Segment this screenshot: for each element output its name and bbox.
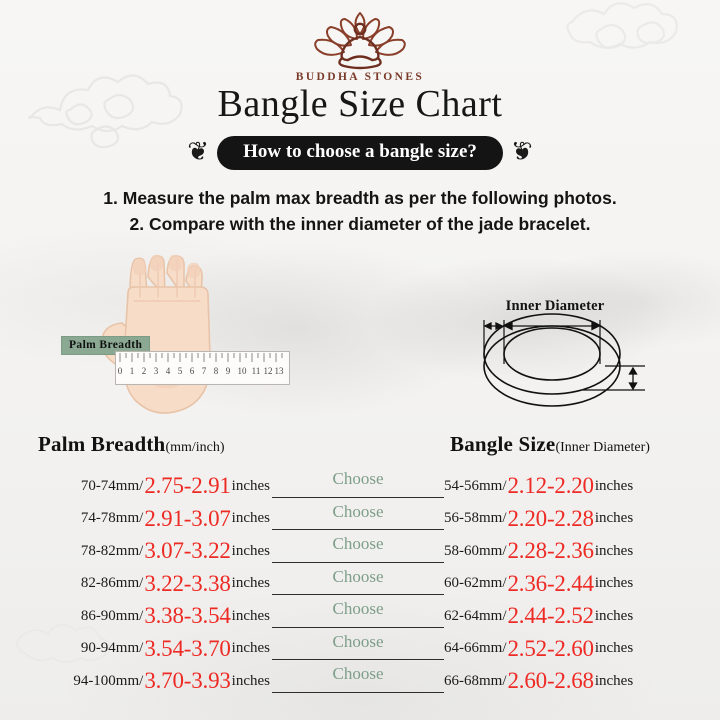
inch-range: 3.38-3.54 [144,603,230,629]
choose-row[interactable]: Choose [272,665,444,698]
svg-text:12: 12 [264,366,273,376]
choose-label[interactable]: Choose [272,599,444,619]
svg-text:2: 2 [142,366,147,376]
palm-header-main: Palm Breadth [38,432,165,456]
table-row: 70-74mm/2.75-2.91inches [14,470,270,503]
mm-range: 86-90mm/ [81,608,144,625]
inch-range: 2.91-3.07 [144,506,230,532]
inch-range: 2.20-2.28 [508,506,594,532]
inch-range: 3.54-3.70 [144,636,230,662]
svg-text:8: 8 [214,366,219,376]
inch-range: 2.28-2.36 [508,538,594,564]
mm-range: 56-58mm/ [444,510,507,527]
choose-row[interactable]: Choose [272,535,444,568]
unit-label: inches [595,673,633,690]
svg-text:6: 6 [190,366,195,376]
unit-label: inches [232,478,270,495]
instruction-step-2: 2. Compare with the inner diameter of th… [0,212,720,237]
unit-label: inches [595,640,633,657]
table-row: 86-90mm/3.38-3.54inches [14,600,270,633]
svg-text:5: 5 [178,366,183,376]
instruction-steps: 1. Measure the palm max breadth as per t… [0,186,720,237]
mm-range: 94-100mm/ [73,673,143,690]
unit-label: inches [595,608,633,625]
choose-column: ChooseChooseChooseChooseChooseChooseChoo… [272,470,444,698]
banner-row: ❦ How to choose a bangle size? ❦ [0,136,720,170]
table-row: 64-66mm/2.52-2.60inches [444,633,714,666]
bangle-column-header: Bangle Size(Inner Diameter) [450,432,650,457]
page-title: Bangle Size Chart [0,82,720,126]
choose-underline [272,497,444,498]
bangle-header-main: Bangle Size [450,432,555,456]
unit-label: inches [595,510,633,527]
mm-range: 66-68mm/ [444,673,507,690]
choose-row[interactable]: Choose [272,470,444,503]
unit-label: inches [232,575,270,592]
mm-range: 78-82mm/ [81,543,144,560]
ruler-graphic: 012 345 678 91011 121314 [115,351,290,385]
choose-underline [272,627,444,628]
table-row: 82-86mm/3.22-3.38inches [14,568,270,601]
table-row: 74-78mm/2.91-3.07inches [14,503,270,536]
svg-text:9: 9 [226,366,231,376]
choose-underline [272,594,444,595]
unit-label: inches [595,575,633,592]
ornament-flourish-icon: ❦ [187,139,209,165]
bangle-size-rows: 54-56mm/2.12-2.20inches56-58mm/2.20-2.28… [444,470,714,698]
mm-range: 70-74mm/ [81,478,144,495]
mm-range: 58-60mm/ [444,543,507,560]
palm-breadth-rows: 70-74mm/2.75-2.91inches74-78mm/2.91-3.07… [14,470,270,698]
palm-column-header: Palm Breadth(mm/inch) [38,432,225,457]
unit-label: inches [595,478,633,495]
table-row: 58-60mm/2.28-2.36inches [444,535,714,568]
inch-range: 2.36-2.44 [508,571,594,597]
choose-label[interactable]: Choose [272,534,444,554]
palm-header-sub: (mm/inch) [165,440,224,455]
banner-pill: How to choose a bangle size? [217,136,503,170]
choose-label[interactable]: Choose [272,664,444,684]
inch-range: 2.12-2.20 [508,473,594,499]
choose-label[interactable]: Choose [272,567,444,587]
mm-range: 60-62mm/ [444,575,507,592]
inch-range: 2.52-2.60 [508,636,594,662]
inch-range: 3.07-3.22 [144,538,230,564]
svg-text:11: 11 [252,366,261,376]
brand-logo: BUDDHA STONES [0,8,720,83]
table-row: 54-56mm/2.12-2.20inches [444,470,714,503]
choose-row[interactable]: Choose [272,503,444,536]
mm-range: 54-56mm/ [444,478,507,495]
inch-range: 3.70-3.93 [144,668,230,694]
inch-range: 2.75-2.91 [144,473,230,499]
unit-label: inches [232,673,270,690]
instruction-step-1: 1. Measure the palm max breadth as per t… [0,186,720,211]
choose-label[interactable]: Choose [272,502,444,522]
svg-text:7: 7 [202,366,207,376]
table-row: 78-82mm/3.07-3.22inches [14,535,270,568]
choose-row[interactable]: Choose [272,600,444,633]
inch-range: 2.44-2.52 [508,603,594,629]
unit-label: inches [232,640,270,657]
choose-row[interactable]: Choose [272,633,444,666]
unit-label: inches [232,608,270,625]
bangle-header-sub: (Inner Diameter) [555,440,649,455]
svg-text:10: 10 [238,366,248,376]
lotus-meditation-icon [300,8,420,70]
unit-label: inches [232,510,270,527]
svg-text:0: 0 [118,366,123,376]
svg-text:1: 1 [130,366,135,376]
size-chart-page: BUDDHA STONES Bangle Size Chart ❦ How to… [0,0,720,720]
mm-range: 62-64mm/ [444,608,507,625]
table-row: 66-68mm/2.60-2.68inches [444,665,714,698]
svg-text:13: 13 [275,366,285,376]
ornament-flourish-icon: ❦ [511,139,533,165]
choose-row[interactable]: Choose [272,568,444,601]
choose-label[interactable]: Choose [272,469,444,489]
table-row: 60-62mm/2.36-2.44inches [444,568,714,601]
choose-underline [272,659,444,660]
inch-range: 2.60-2.68 [508,668,594,694]
bangle-ring-icon [455,292,655,420]
table-row: 56-58mm/2.20-2.28inches [444,503,714,536]
unit-label: inches [595,543,633,560]
inch-range: 3.22-3.38 [144,571,230,597]
mm-range: 90-94mm/ [81,640,144,657]
mm-range: 64-66mm/ [444,640,507,657]
mm-range: 82-86mm/ [81,575,144,592]
svg-text:3: 3 [154,366,159,376]
table-row: 90-94mm/3.54-3.70inches [14,633,270,666]
choose-underline [272,692,444,693]
table-row: 94-100mm/3.70-3.93inches [14,665,270,698]
table-row: 62-64mm/2.44-2.52inches [444,600,714,633]
choose-underline [272,529,444,530]
svg-text:4: 4 [166,366,171,376]
unit-label: inches [232,543,270,560]
choose-underline [272,562,444,563]
mm-range: 74-78mm/ [81,510,144,527]
choose-label[interactable]: Choose [272,632,444,652]
